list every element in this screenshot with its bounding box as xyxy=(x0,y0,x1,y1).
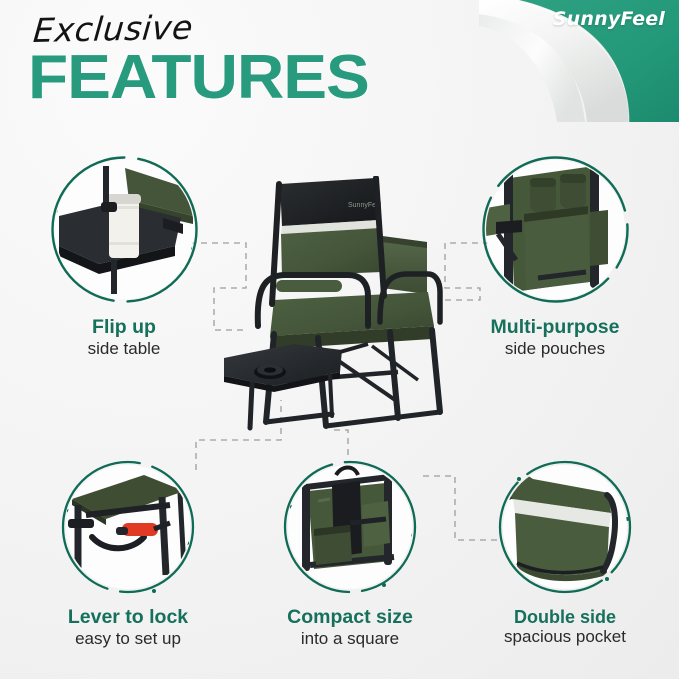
feature-image-compact xyxy=(288,465,412,589)
feature-sublabel: into a square xyxy=(255,629,445,649)
feature-sublabel: spacious pocket xyxy=(465,627,665,647)
feature-ring xyxy=(478,152,633,307)
headline-kicker: Exclusive xyxy=(32,7,353,47)
feature-label: Multi-purpose xyxy=(455,317,655,339)
feature-compact-size[interactable]: Compact size into a square xyxy=(255,457,445,648)
feature-flip-up-side-table[interactable]: Flip up side table xyxy=(24,152,224,358)
feature-sublabel: side pouches xyxy=(455,339,655,359)
feature-image-lever xyxy=(66,465,190,589)
infographic-poster: SunnyFeel Exclusive FEATURES xyxy=(0,0,679,679)
headline-title: FEATURES xyxy=(28,49,369,106)
feature-lever-to-lock[interactable]: Lever to lock easy to set up xyxy=(33,457,223,648)
brand-logo: SunnyFeel xyxy=(553,8,665,30)
feature-image-double-side xyxy=(503,465,627,589)
connector-compact xyxy=(333,430,348,455)
feature-ring xyxy=(280,457,420,597)
feature-image-flip-up xyxy=(55,160,194,299)
page-title: Exclusive FEATURES xyxy=(28,14,350,106)
feature-ring xyxy=(58,457,198,597)
feature-image-multi-purpose xyxy=(486,160,625,299)
hero-product-image: SunnyFeel xyxy=(222,176,457,431)
feature-label: Compact size xyxy=(255,607,445,629)
feature-double-side-pocket[interactable]: Double side spacious pocket xyxy=(465,457,665,647)
feature-label: Lever to lock xyxy=(33,607,223,629)
feature-multi-purpose-side-pouches[interactable]: Multi-purpose side pouches xyxy=(455,152,655,358)
feature-label: Flip up xyxy=(24,317,224,339)
feature-sublabel: side table xyxy=(24,339,224,359)
feature-label: Double side xyxy=(465,607,665,627)
feature-sublabel: easy to set up xyxy=(33,629,223,649)
feature-ring xyxy=(495,457,635,597)
feature-ring xyxy=(47,152,202,307)
